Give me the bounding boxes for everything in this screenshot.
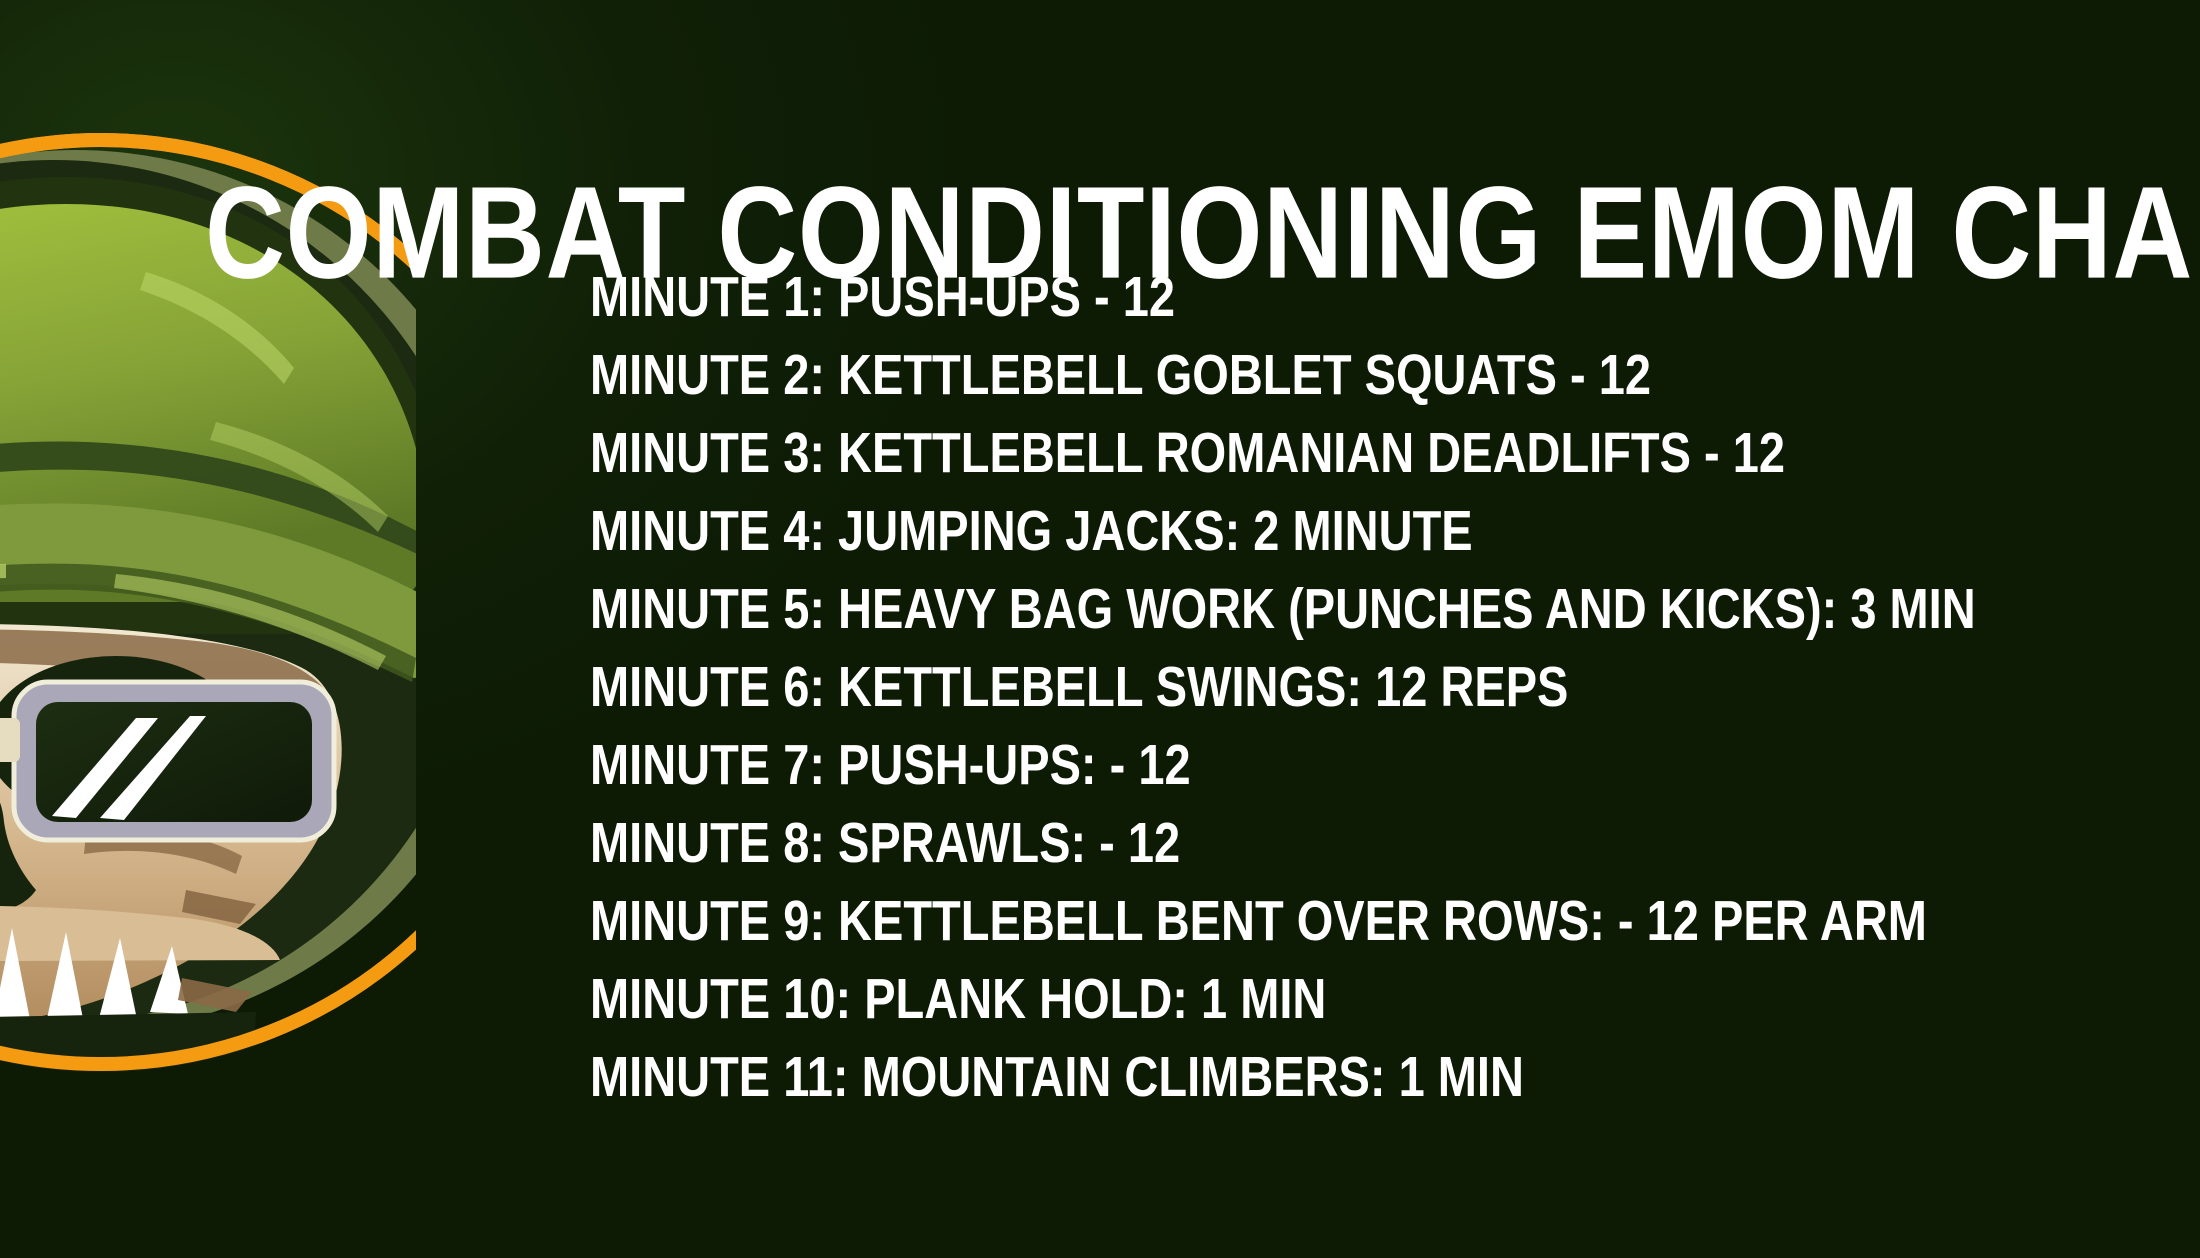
list-item: MINUTE 6: KETTLEBELL SWINGS: 12 REPS xyxy=(590,658,2190,726)
list-item: MINUTE 9: KETTLEBELL BENT OVER ROWS: - 1… xyxy=(590,892,2190,960)
list-item: MINUTE 2: KETTLEBELL GOBLET SQUATS - 12 xyxy=(590,346,2190,414)
list-item: MINUTE 11: MOUNTAIN CLIMBERS: 1 MIN xyxy=(590,1048,2190,1116)
poster-canvas: COMBAT CONDITIONING EMOM CHALLENGE MINUT… xyxy=(0,0,2200,1258)
list-item: MINUTE 10: PLANK HOLD: 1 MIN xyxy=(590,970,2190,1038)
list-item: MINUTE 5: HEAVY BAG WORK (PUNCHES AND KI… xyxy=(590,580,2190,648)
list-item: MINUTE 1: PUSH-UPS - 12 xyxy=(590,268,2190,336)
list-item: MINUTE 4: JUMPING JACKS: 2 MINUTE xyxy=(590,502,2190,570)
list-item: MINUTE 8: SPRAWLS: - 12 xyxy=(590,814,2190,882)
list-item: MINUTE 3: KETTLEBELL ROMANIAN DEADLIFTS … xyxy=(590,424,2190,492)
workout-list: MINUTE 1: PUSH-UPS - 12 MINUTE 2: KETTLE… xyxy=(590,268,2190,1126)
list-item: MINUTE 7: PUSH-UPS: - 12 xyxy=(590,736,2190,804)
glasses-bridge xyxy=(0,718,20,762)
